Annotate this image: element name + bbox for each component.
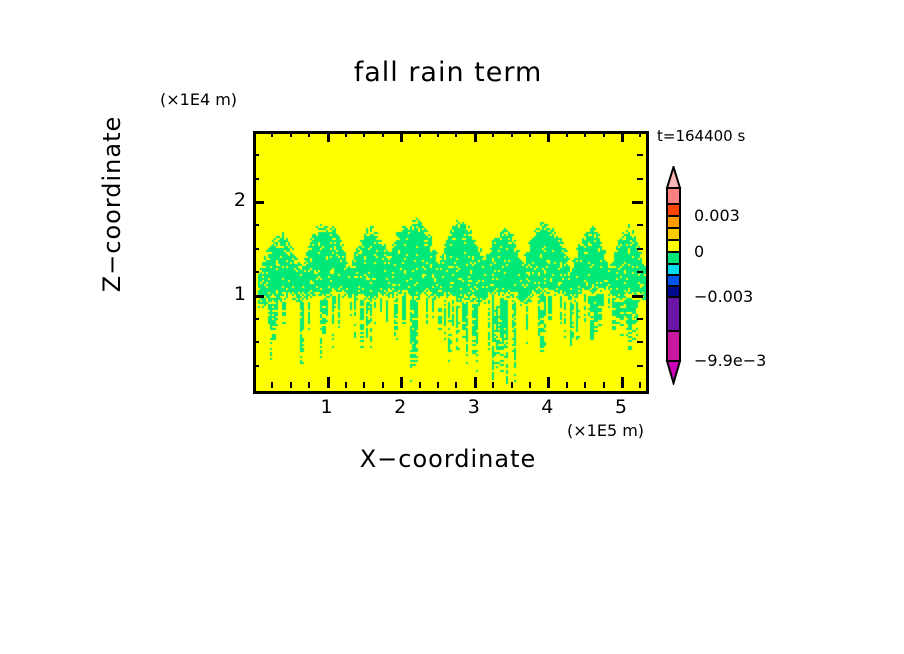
y-tick-right — [637, 365, 643, 367]
y-minor-tick — [253, 318, 259, 320]
x-minor-tick — [345, 382, 347, 388]
y-minor-tick — [253, 341, 259, 343]
colorbar-band — [667, 216, 680, 228]
x-tick-label: 2 — [380, 396, 420, 418]
x-tick-top — [290, 131, 292, 137]
time-stamp: t=164400 s — [657, 127, 745, 145]
x-minor-tick — [419, 382, 421, 388]
rain-field-canvas — [256, 134, 646, 391]
x-minor-tick — [437, 382, 439, 388]
y-tick-label: 2 — [206, 189, 246, 211]
y-minor-tick — [253, 271, 259, 273]
y-minor-tick — [253, 154, 259, 156]
x-minor-tick — [382, 382, 384, 388]
colorbar-extend-top — [667, 167, 680, 188]
x-tick-top — [455, 131, 457, 137]
y-major-tick — [253, 201, 264, 204]
y-tick-right — [637, 341, 643, 343]
y-minor-tick — [253, 365, 259, 367]
x-tick-top — [511, 131, 513, 137]
x-tick-top — [382, 131, 384, 137]
y-minor-tick — [253, 224, 259, 226]
x-tick-top — [345, 131, 347, 137]
x-tick-top — [603, 131, 605, 137]
x-tick-top — [308, 131, 310, 137]
colorbar-band — [667, 252, 680, 264]
colorbar-band — [667, 275, 680, 286]
x-tick-top — [639, 131, 641, 137]
x-minor-tick — [271, 382, 273, 388]
plot-area — [253, 131, 649, 394]
y-tick-right — [637, 271, 643, 273]
y-tick-right — [637, 224, 643, 226]
x-tick-top — [547, 131, 550, 142]
x-axis-unit-label: (×1E5 m) — [567, 421, 644, 440]
colorbar-band — [667, 188, 680, 204]
colorbar-extend-bottom — [667, 361, 680, 383]
x-tick-top — [566, 131, 568, 137]
x-minor-tick — [455, 382, 457, 388]
x-major-tick — [621, 377, 624, 388]
colorbar-band — [667, 264, 680, 275]
page-title: fall rain term — [253, 57, 643, 88]
x-tick-top — [400, 131, 403, 142]
x-minor-tick — [566, 382, 568, 388]
x-major-tick — [400, 377, 403, 388]
y-tick-right — [632, 201, 643, 204]
colorbar-tick-label: −0.003 — [694, 287, 753, 306]
y-axis-title: Z−coordinate — [98, 84, 126, 324]
y-tick-right — [637, 154, 643, 156]
x-minor-tick — [603, 382, 605, 388]
y-minor-tick — [253, 178, 259, 180]
y-tick-right — [637, 178, 643, 180]
x-tick-label: 5 — [601, 396, 641, 418]
x-minor-tick — [584, 382, 586, 388]
colorbar-band — [667, 228, 680, 240]
x-axis-title: X−coordinate — [253, 445, 643, 473]
x-major-tick — [327, 377, 330, 388]
colorbar-band — [667, 297, 680, 331]
x-tick-top — [437, 131, 439, 137]
x-minor-tick — [492, 382, 494, 388]
x-tick-label: 1 — [307, 396, 347, 418]
x-minor-tick — [290, 382, 292, 388]
colorbar-band — [667, 286, 680, 297]
colorbar-band — [667, 204, 680, 216]
x-minor-tick — [511, 382, 513, 388]
colorbar-band — [667, 240, 680, 252]
colorbar-band — [667, 331, 680, 361]
x-minor-tick — [363, 382, 365, 388]
x-minor-tick — [529, 382, 531, 388]
y-tick-right — [632, 295, 643, 298]
x-tick-top — [492, 131, 494, 137]
x-tick-label: 4 — [527, 396, 567, 418]
x-tick-top — [363, 131, 365, 137]
x-tick-top — [474, 131, 477, 142]
x-tick-top — [419, 131, 421, 137]
x-major-tick — [474, 377, 477, 388]
colorbar-tick-label: 0.003 — [694, 206, 740, 225]
colorbar-tick-label: −9.9e−3 — [694, 351, 766, 370]
y-tick-right — [637, 318, 643, 320]
x-minor-tick — [639, 382, 641, 388]
x-tick-top — [327, 131, 330, 142]
y-axis-unit-label: (×1E4 m) — [160, 90, 237, 109]
y-tick-right — [637, 248, 643, 250]
x-tick-top — [271, 131, 273, 137]
x-minor-tick — [308, 382, 310, 388]
x-tick-label: 3 — [454, 396, 494, 418]
x-tick-top — [621, 131, 624, 142]
y-major-tick — [253, 295, 264, 298]
colorbar-tick-label: 0 — [694, 242, 704, 261]
y-minor-tick — [253, 248, 259, 250]
x-tick-top — [584, 131, 586, 137]
x-major-tick — [547, 377, 550, 388]
x-tick-top — [529, 131, 531, 137]
figure-root: fall rain term (×1E4 m) t=164400 s Z−coo… — [0, 0, 904, 654]
y-tick-label: 1 — [206, 283, 246, 305]
